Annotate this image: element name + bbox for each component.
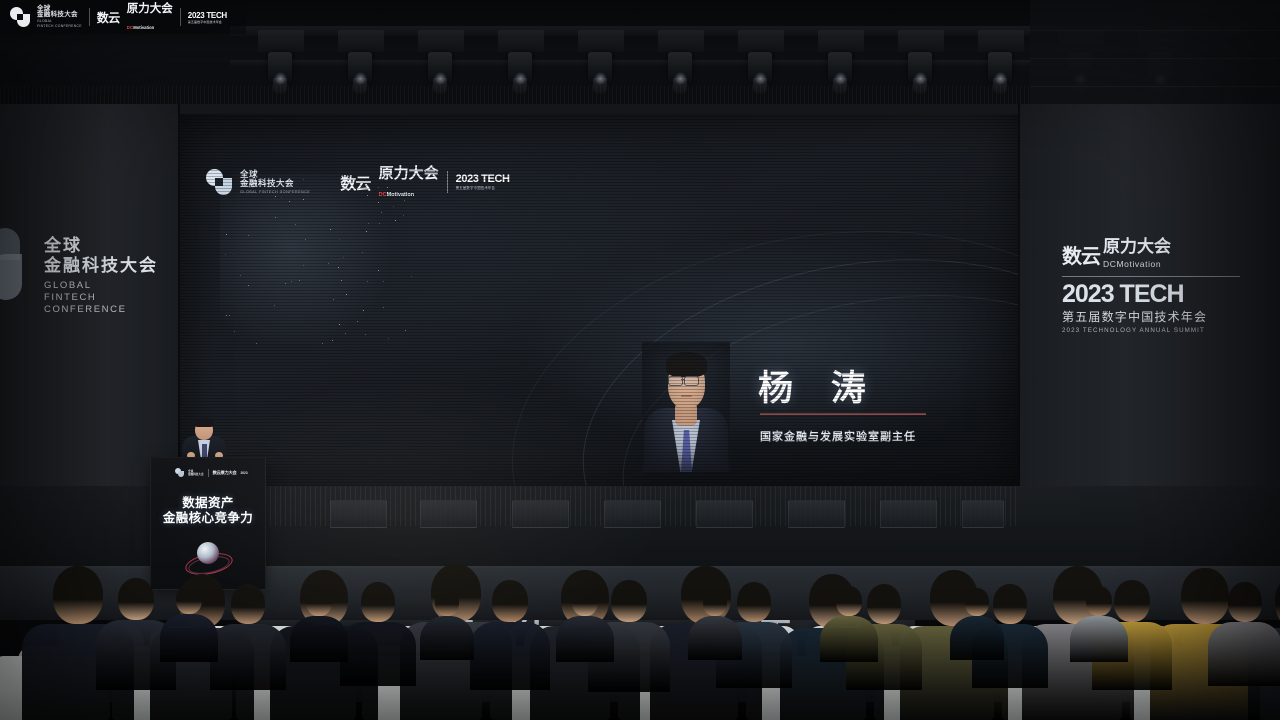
gfc-logo-mark: [0, 228, 36, 302]
stage-vent: [512, 500, 569, 528]
stage-vent: [880, 500, 937, 528]
rig-box: [818, 30, 864, 52]
right-wall-divider: [1062, 276, 1240, 277]
audience-member: [340, 582, 416, 686]
rig-box: [658, 30, 704, 52]
wall-seam-right: [1018, 104, 1020, 504]
presenter-at-podium: [178, 418, 230, 462]
right-wall-en: DCMotivation: [1103, 259, 1171, 269]
audience: 中国民生银行进出口银行进出口银行中信银行: [0, 540, 1280, 720]
stage-light-glow: [994, 72, 1007, 85]
left-wall-en-line2: FINTECH CONFERENCE: [44, 292, 172, 316]
gfc-logo-mark: [175, 468, 184, 477]
audience-member: [160, 584, 218, 662]
stage-light-glow: [674, 72, 687, 85]
stage-light-glow: [354, 72, 367, 85]
rig-box: [578, 30, 624, 52]
rig-box: [498, 30, 544, 52]
left-wall-cn-line2: 金融科技大会: [44, 256, 158, 276]
podium-cn-2: 金融科技大会: [188, 473, 204, 476]
stage-light-glow: [914, 72, 927, 85]
podium-year: 2023: [241, 471, 248, 475]
rig-box: [258, 30, 304, 52]
right-wall-shuyun: 数云: [1062, 240, 1100, 269]
left-wall-cn: 全球 金融科技大会: [44, 236, 158, 276]
right-wall-signage: 数云 原力大会 DCMotivation 2023 TECH 第五届数字中国技术…: [1062, 232, 1252, 332]
overlay-gfc-en-1: GLOBAL: [37, 20, 82, 23]
left-wall-cn-line1: 全球: [44, 236, 158, 256]
audience-member: [1070, 586, 1128, 662]
stage-light-glow: [514, 72, 527, 85]
stage-vent: [604, 500, 661, 528]
overlay-shuyun: 数云: [97, 9, 120, 26]
podium-logo-bar: 全球 金融科技大会 数云原力大会 2023: [175, 468, 248, 477]
overlay-year: 2023 TECH: [188, 11, 227, 20]
overlay-year-sub: 第五届数字中国技术年会: [188, 20, 227, 24]
stage-light-glow: [594, 72, 607, 85]
rig-box: [738, 30, 784, 52]
audience-member: [556, 586, 614, 662]
audience-member: [210, 584, 286, 690]
gfc-logo-mark: [10, 7, 30, 27]
audience-member: [470, 580, 550, 690]
stage-vent: [330, 500, 387, 528]
overlay-motivation: Motivation: [133, 25, 154, 30]
audience-member: [688, 588, 742, 660]
stage-light-glow: [434, 72, 447, 85]
podium-title-line2: 金融核心竞争力: [151, 511, 265, 526]
overlay-gfc-en-2: FINTECH CONFERENCE: [37, 25, 82, 28]
right-wall-tech: 2023 TECH: [1062, 281, 1252, 307]
audience-member: [290, 586, 348, 662]
stage-vent: [696, 500, 753, 528]
led-pixel-texture: [180, 114, 1018, 486]
right-wall-en-sub: 2023 TECHNOLOGY ANNUAL SUMMIT: [1062, 327, 1252, 334]
audience-member: [420, 588, 474, 660]
audience-member: [1208, 582, 1280, 686]
rig-box: [418, 30, 464, 52]
left-wall-signage: 全球 金融科技大会 GLOBAL FINTECH CONFERENCE: [4, 228, 172, 318]
stage-vent: [788, 500, 845, 528]
main-led-screen: 全球 金融科技大会 GLOBAL FINTECH CONFERENCE 数云 原…: [180, 114, 1018, 486]
conference-stage-photo: 全球 金融科技大会 GLOBAL FINTECH CONFERENCE 数云 原…: [0, 0, 1280, 720]
stage-light-glow: [274, 72, 287, 85]
right-wall-yuanli: 原力大会: [1103, 232, 1171, 257]
overlay-yuanli: 原力大会: [127, 0, 173, 16]
stage-light-glow: [754, 72, 767, 85]
audience-member: [820, 586, 878, 662]
rig-box: [898, 30, 944, 52]
rig-box: [338, 30, 384, 52]
broadcast-logo-overlay: 全球 金融科技大会 GLOBAL FINTECH CONFERENCE 数云 原…: [0, 0, 246, 34]
rig-box: [978, 30, 1024, 52]
stage-vent: [962, 500, 1004, 528]
right-wall-cn-sub: 第五届数字中国技术年会: [1062, 308, 1252, 325]
overlay-gfc-cn-2: 金融科技大会: [37, 12, 82, 19]
stage-vent: [420, 500, 477, 528]
audience-member: [950, 588, 1004, 660]
podium-title-line1: 数据资产: [151, 496, 265, 511]
podium-title: 数据资产 金融核心竞争力: [151, 496, 265, 526]
stage-light-glow: [834, 72, 847, 85]
podium-shuyun: 数云原力大会: [213, 470, 237, 476]
left-wall-en-line1: GLOBAL: [44, 280, 172, 292]
left-wall-en: GLOBAL FINTECH CONFERENCE: [44, 280, 172, 316]
